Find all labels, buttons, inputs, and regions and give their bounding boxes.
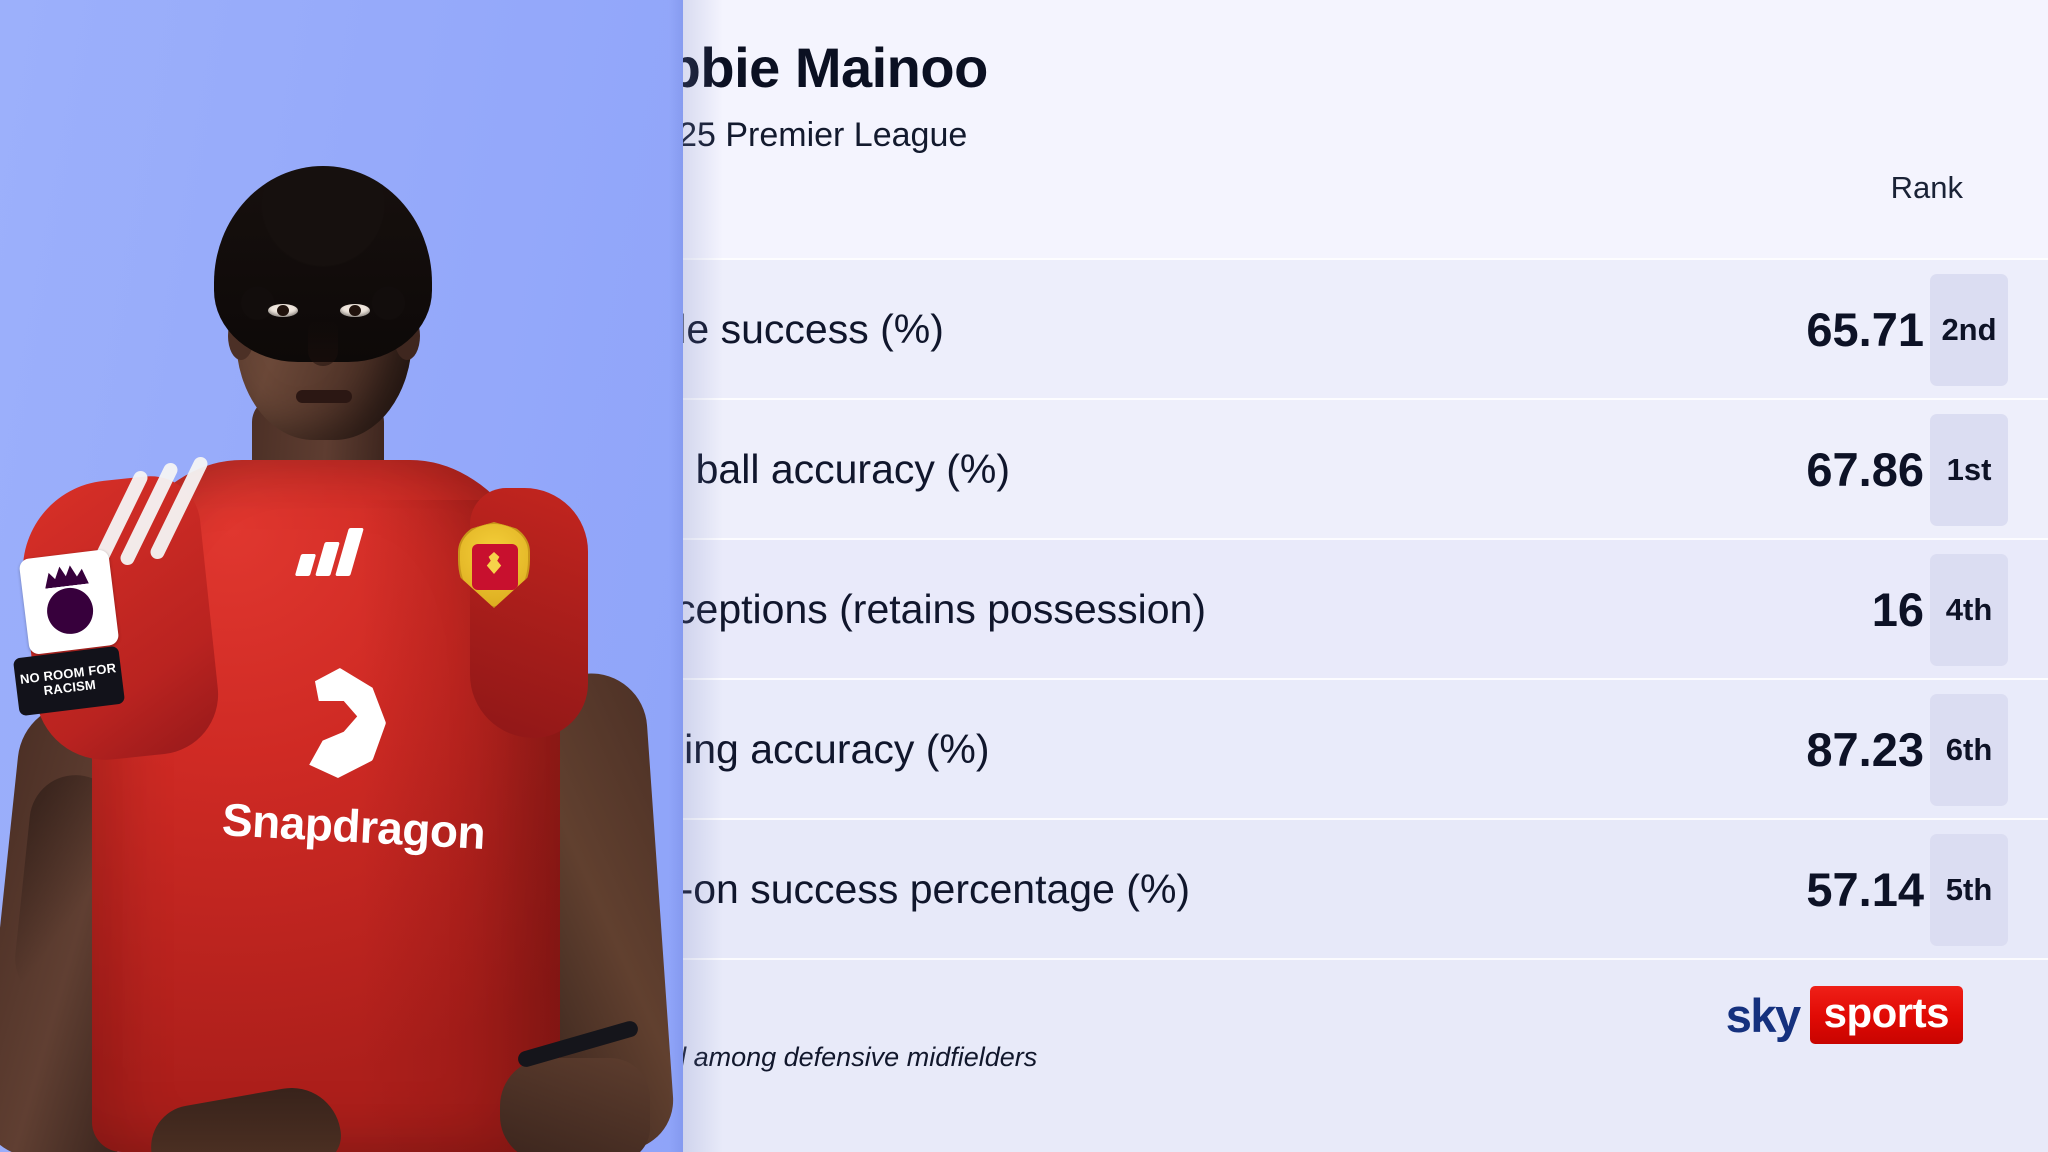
infographic-root: NO ROOM FOR RACISM Snapdragon bbox=[0, 0, 2048, 1152]
adidas-logo-icon bbox=[296, 526, 368, 576]
rank-badge: 4th bbox=[1930, 554, 2008, 666]
rank-badge: 5th bbox=[1930, 834, 2008, 946]
no-room-for-racism-text: NO ROOM FOR RACISM bbox=[15, 661, 124, 701]
rank-badge: 2nd bbox=[1930, 274, 2008, 386]
player-left-eye bbox=[268, 304, 298, 317]
stat-value: 57.14 bbox=[1806, 862, 1924, 917]
stat-value: 16 bbox=[1872, 582, 1924, 637]
stat-value: 87.23 bbox=[1806, 722, 1924, 777]
rank-badge: 1st bbox=[1930, 414, 2008, 526]
premier-league-lion-icon bbox=[18, 549, 119, 655]
stat-row: Tackle success (%) 65.71 2nd bbox=[683, 258, 2048, 398]
sky-wordmark: sky bbox=[1726, 988, 1800, 1043]
player-figure: NO ROOM FOR RACISM Snapdragon bbox=[0, 108, 683, 1152]
player-right-eye bbox=[340, 304, 370, 317]
rank-badge: 6th bbox=[1930, 694, 2008, 806]
player-mouth bbox=[296, 390, 352, 403]
player-right-hand bbox=[500, 1058, 650, 1152]
snapdragon-logo-icon bbox=[290, 668, 386, 778]
player-photo-panel: NO ROOM FOR RACISM Snapdragon bbox=[0, 0, 683, 1152]
stat-value: 67.86 bbox=[1806, 442, 1924, 497]
stat-value: 65.71 bbox=[1806, 302, 1924, 357]
stat-row: Interceptions (retains possession) 16 4t… bbox=[683, 538, 2048, 678]
snapdragon-flame-shape bbox=[290, 668, 386, 778]
sports-wordmark: sports bbox=[1810, 986, 1963, 1044]
stat-row: Long ball accuracy (%) 67.86 1st bbox=[683, 398, 2048, 538]
stats-footer: Ranked among defensive midfielders sky s… bbox=[683, 958, 2048, 1152]
stats-panel: Kobbie Mainoo 2024/25 Premier League Ran… bbox=[683, 0, 2048, 1152]
stat-label: Interceptions (retains possession) bbox=[593, 586, 1206, 633]
rank-column-header: Rank bbox=[1891, 170, 1963, 206]
player-nose bbox=[308, 320, 338, 366]
stat-row: Passing accuracy (%) 87.23 6th bbox=[683, 678, 2048, 818]
lion-head-icon bbox=[44, 585, 95, 636]
stats-header: Kobbie Mainoo 2024/25 Premier League Ran… bbox=[683, 0, 2048, 258]
crown-icon bbox=[43, 562, 89, 589]
stat-row: Take-on success percentage (%) 57.14 5th bbox=[683, 818, 2048, 958]
sky-sports-logo: sky sports bbox=[1726, 986, 1963, 1044]
